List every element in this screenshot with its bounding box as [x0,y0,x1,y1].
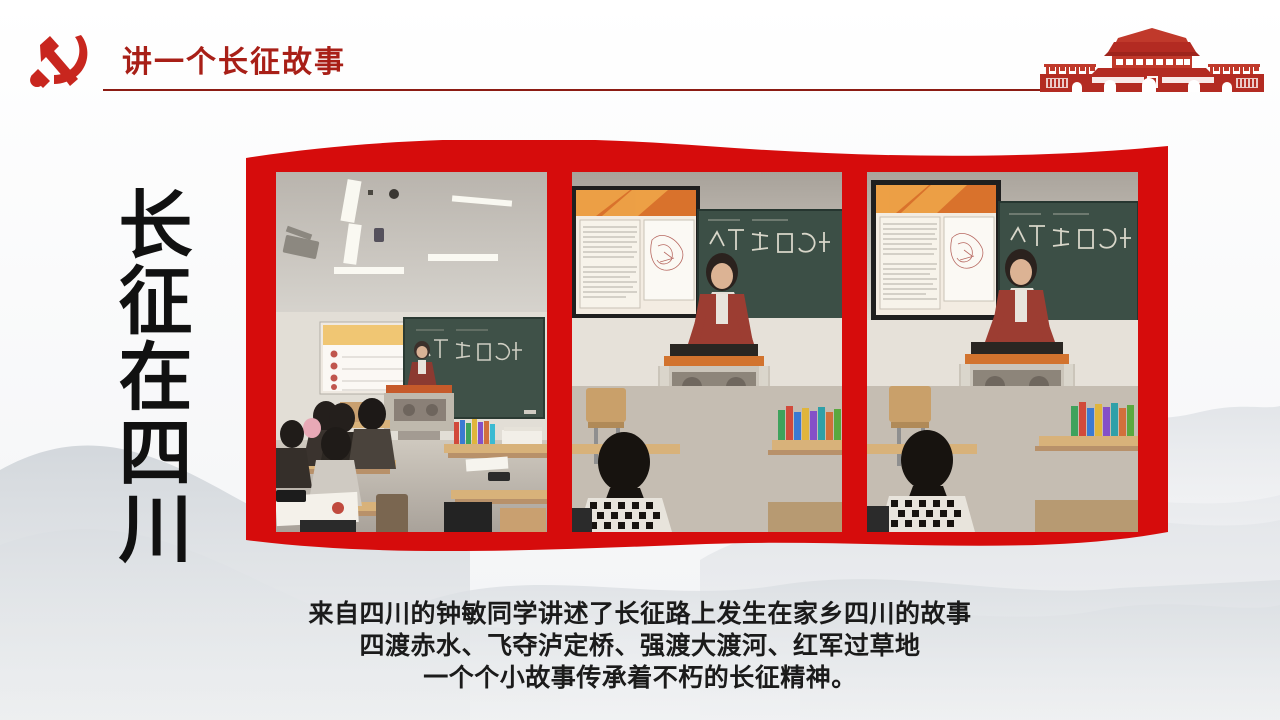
caption-block: 来自四川的钟敏同学讲述了长征路上发生在家乡四川的故事 四渡赤水、飞夺泸定桥、强渡… [0,598,1280,694]
caption-line-1: 来自四川的钟敏同学讲述了长征路上发生在家乡四川的故事 [0,598,1280,630]
caption-line-2: 四渡赤水、飞夺泸定桥、强渡大渡河、红军过草地 [0,630,1280,662]
classroom-photo-2[interactable] [572,172,843,532]
classroom-photo-1[interactable] [276,172,547,532]
page-title: 讲一个长征故事 [122,37,346,81]
photo-strip [276,172,1138,532]
photo-banner [246,140,1168,565]
slide-header: 讲一个长征故事 [0,0,1280,110]
party-emblem-hammer-sickle-icon [26,29,98,95]
presentation-slide: 讲一个长征故事 [0,0,1280,720]
classroom-photo-3-image [867,172,1138,532]
vertical-title: 长征在四川 [92,186,184,566]
classroom-photo-3[interactable] [867,172,1138,532]
caption-line-3: 一个个小故事传承着不朽的长征精神。 [0,662,1280,694]
tiananmen-gate-icon [1036,26,1268,92]
classroom-photo-1-image [276,172,547,532]
classroom-photo-2-image [572,172,843,532]
